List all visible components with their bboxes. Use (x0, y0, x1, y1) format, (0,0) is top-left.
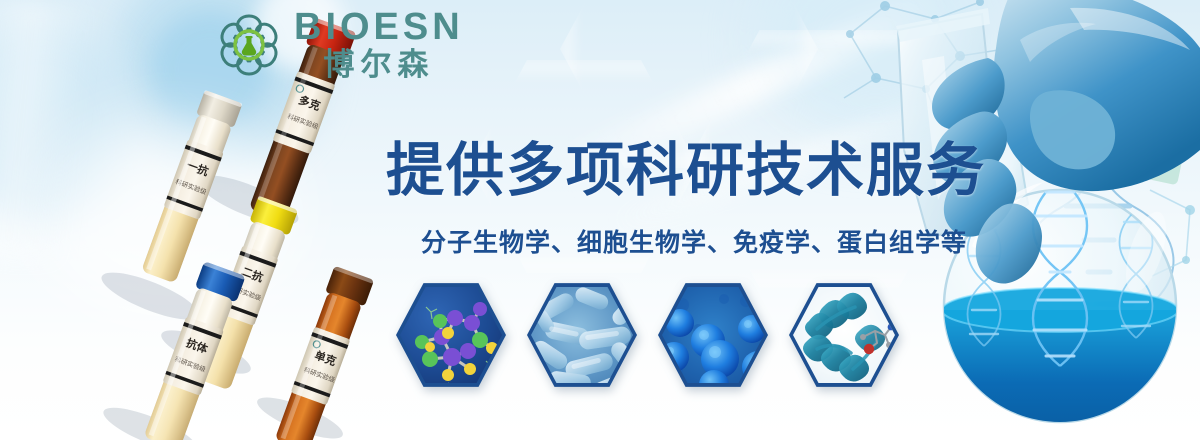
bioesn-helix-flask-icon (214, 10, 284, 80)
logo-english-name: BIOESN (294, 8, 464, 46)
banner-subheadline: 分子生物学、细胞生物学、免疫学、蛋白组学等 (421, 223, 967, 259)
flask-glyph (242, 36, 256, 56)
hex-icon-protein-ribbon[interactable] (789, 281, 899, 389)
banner-headline: 提供多项科研技术服务 (386, 123, 986, 207)
hex-icon-bacteria[interactable] (527, 281, 637, 389)
hex-icon-molecule-network[interactable] (396, 281, 506, 389)
service-icon-row (396, 281, 899, 389)
hex-icon-cell-cluster[interactable] (658, 281, 768, 389)
logo-wordmark: BIOESN 博尔森 (294, 8, 464, 81)
promo-banner: BIOESN 博尔森 提供多项科研技术服务 分子生物学、细胞生物学、免疫学、蛋白… (0, 0, 1200, 440)
logo-chinese-name: 博尔森 (294, 50, 464, 81)
vial-monoclonal: 单克 科研实验级 (272, 266, 374, 440)
brand-logo[interactable]: BIOESN 博尔森 (214, 8, 464, 81)
